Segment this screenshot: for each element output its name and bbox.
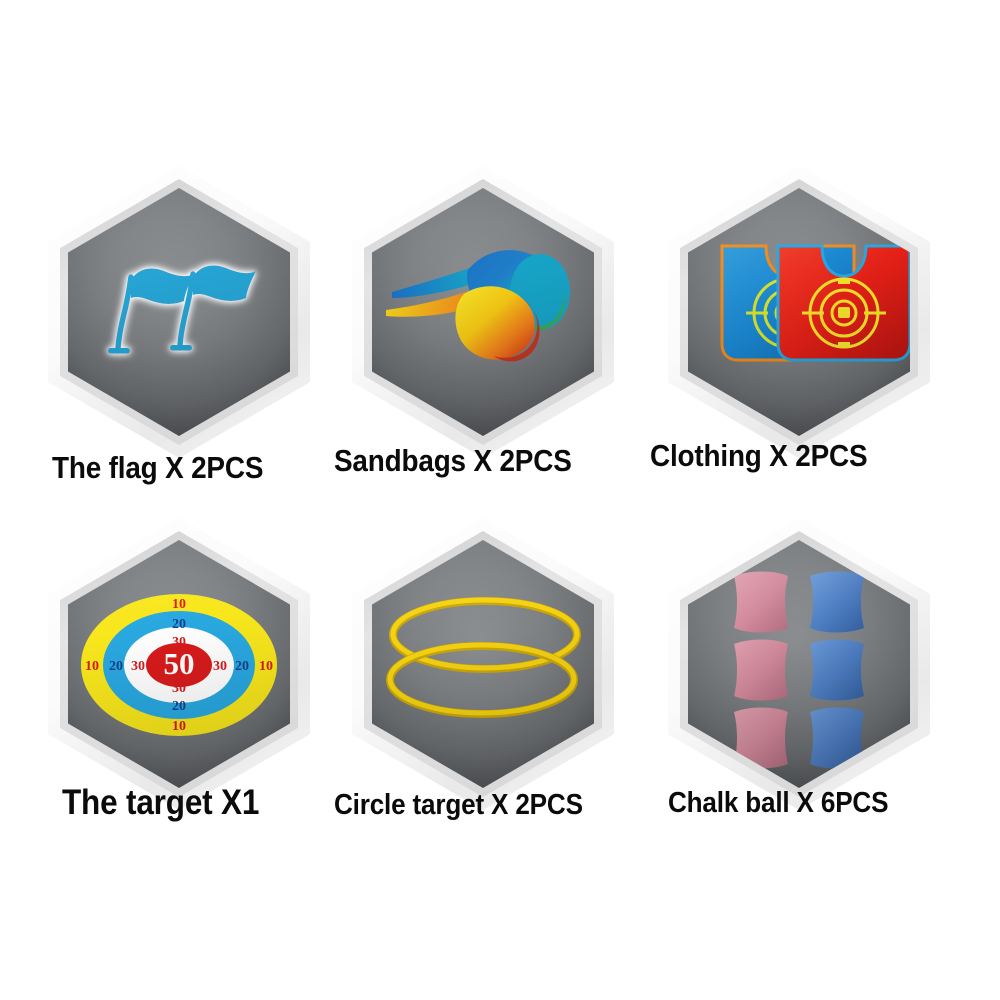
item-label-clothing: Clothing X 2PCS	[650, 438, 867, 474]
target-score-30-right: 30	[213, 659, 227, 674]
target-score-10-left: 10	[85, 659, 99, 674]
target-score-10-top: 10	[172, 597, 186, 612]
target-score-10-bottom: 10	[172, 719, 186, 734]
hex-frame-sandbags	[352, 166, 614, 458]
item-cell-clothing	[668, 166, 930, 458]
item-label-target: The target X1	[62, 783, 259, 823]
hex-frame-circle-target	[352, 518, 614, 810]
hex-frame-target: 10 20 30 50 30 20 10 10 20 30 30 20 10	[48, 518, 310, 810]
target-score-10-right: 10	[259, 659, 273, 674]
item-cell-sandbags	[352, 166, 614, 458]
target-score-50: 50	[164, 646, 195, 681]
target-score-20-top: 20	[172, 617, 186, 632]
target-score-30-left: 30	[131, 659, 145, 674]
target-score-30-bottom: 30	[172, 681, 186, 696]
hex-frame-flag	[48, 166, 310, 458]
item-label-flag: The flag X 2PCS	[52, 450, 263, 486]
hex-frame-chalk-ball	[668, 518, 930, 810]
target-score-20-left: 20	[109, 659, 123, 674]
item-label-circle-target: Circle target X 2PCS	[334, 789, 583, 822]
item-cell-chalk-ball	[668, 518, 930, 810]
item-cell-flag	[48, 166, 310, 458]
item-label-chalk-ball: Chalk ball X 6PCS	[668, 787, 888, 820]
item-cell-target: 10 20 30 50 30 20 10 10 20 30 30 20 10	[48, 518, 310, 810]
item-cell-circle-target	[352, 518, 614, 810]
target-score-20-bottom: 20	[172, 699, 186, 714]
hex-frame-clothing	[668, 166, 930, 458]
product-contents-board: The flag X 2PCS	[0, 0, 1000, 1000]
target-score-20-right: 20	[235, 659, 249, 674]
item-label-sandbags: Sandbags X 2PCS	[334, 443, 572, 479]
